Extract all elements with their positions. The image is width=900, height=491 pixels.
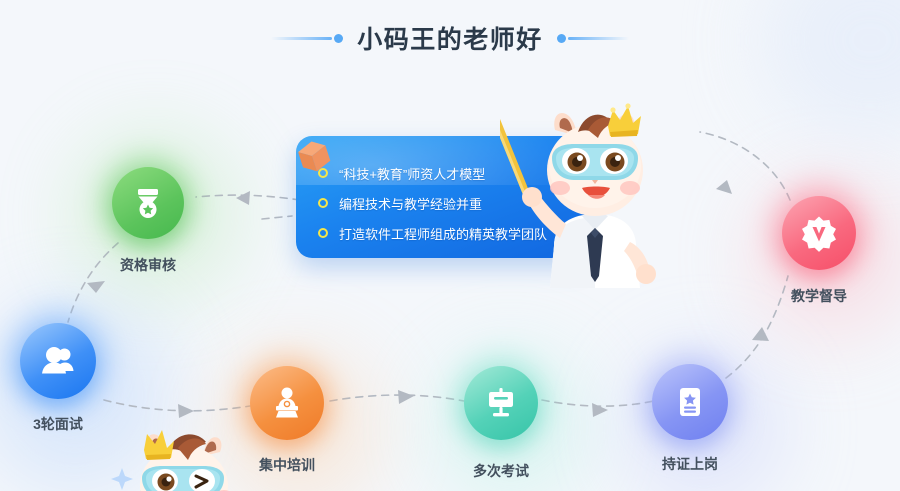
bullet-marker-icon bbox=[318, 228, 328, 238]
connector-decoration-left bbox=[262, 216, 292, 219]
node-label: 教学督导 bbox=[791, 286, 847, 306]
diagram-canvas: 小码王的老师好 3轮面试 (curve down-left) --> 集中培训 … bbox=[0, 0, 900, 491]
node-circle bbox=[250, 366, 324, 440]
flow-node-teaching-supervision[interactable]: 教学督导 bbox=[782, 196, 856, 308]
node-label: 持证上岗 bbox=[662, 454, 718, 474]
flow-node-multiple-exams[interactable]: 多次考试 bbox=[464, 366, 538, 484]
flow-node-qualification-review[interactable]: 资格审核 bbox=[112, 167, 184, 277]
crown-icon bbox=[608, 103, 641, 137]
bullet-marker-icon bbox=[318, 198, 328, 208]
connector-supervision-to-card bbox=[700, 132, 790, 200]
connector-exams-to-certified bbox=[542, 400, 654, 406]
connector-training-to-exams bbox=[330, 395, 464, 401]
exam-board-icon bbox=[482, 384, 520, 422]
bullet-text: “科技+教育”师资人才模型 bbox=[339, 164, 485, 183]
xiaomawang-mascot-peek bbox=[108, 424, 238, 491]
node-label: 资格审核 bbox=[120, 255, 176, 275]
node-circle bbox=[20, 323, 96, 399]
flow-node-certified-employment[interactable]: 持证上岗 bbox=[652, 364, 728, 478]
flow-node-three-round-interview[interactable]: 3轮面试 bbox=[20, 323, 96, 435]
users-icon bbox=[38, 341, 78, 381]
orange-cube-icon bbox=[290, 134, 334, 178]
certificate-icon bbox=[671, 383, 709, 421]
node-label: 集中培训 bbox=[259, 455, 315, 475]
node-label: 3轮面试 bbox=[33, 414, 83, 434]
bullet-text: 编程技术与教学经验并重 bbox=[339, 194, 482, 213]
verified-badge-icon bbox=[799, 213, 839, 253]
medal-icon bbox=[129, 184, 167, 222]
connector-certified-to-supervision bbox=[726, 276, 788, 378]
pointer-stick-icon bbox=[500, 106, 531, 198]
node-label: 多次考试 bbox=[473, 461, 529, 481]
flow-node-centralized-training[interactable]: 集中培训 bbox=[250, 366, 324, 478]
node-circle bbox=[112, 167, 184, 239]
node-circle bbox=[464, 366, 538, 440]
node-circle bbox=[782, 196, 856, 270]
node-circle bbox=[652, 364, 728, 440]
crown-icon bbox=[144, 430, 174, 460]
connector-interview-to-training bbox=[104, 400, 250, 411]
xiaomawang-mascot-teacher bbox=[500, 96, 690, 288]
lecturer-podium-icon bbox=[268, 384, 306, 422]
